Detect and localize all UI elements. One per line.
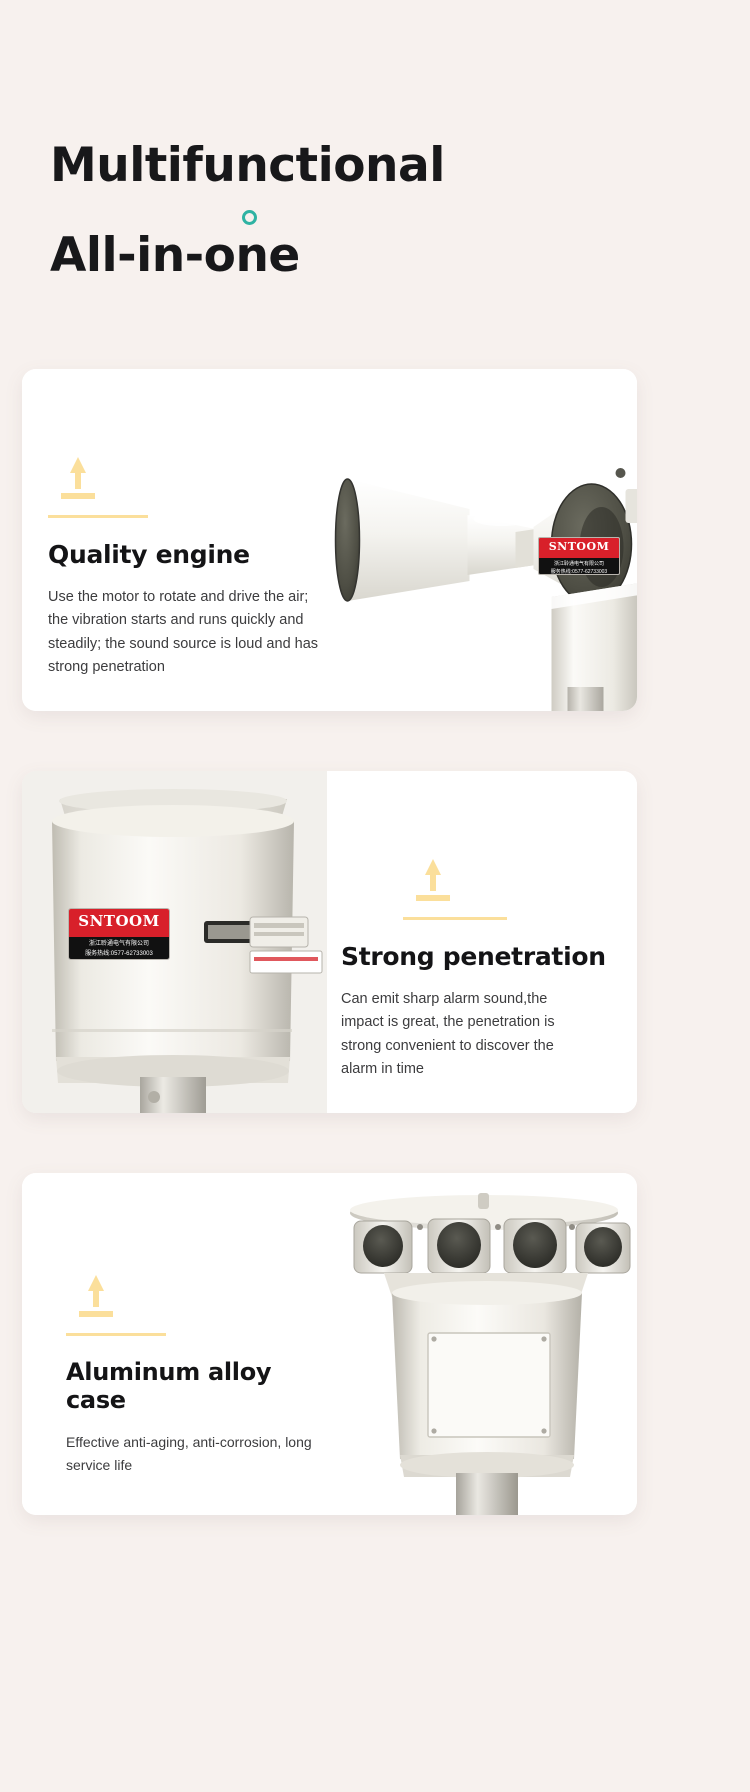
feature-card-text: Strong penetration Can emit sharp alarm … <box>327 771 637 1113</box>
teal-ring-dot-icon <box>242 210 257 225</box>
brand-sub-line-2: 服务热线:0577-62733003 <box>69 949 169 959</box>
page-title-line-2: All-in-one <box>50 232 670 279</box>
feature-card-strong-penetration: Strong penetration Can emit sharp alarm … <box>22 771 637 1113</box>
page-title-line-1: Multifunctional <box>50 142 670 189</box>
feature-card-aluminum-alloy-case: Aluminum alloy case Effective anti-aging… <box>22 1173 637 1515</box>
brand-sub-line-2: 服务热线:0577-62733003 <box>539 568 619 575</box>
brand-sub-line-1: 浙江聆通电气有限公司 <box>69 937 169 949</box>
feature-card-text: Aluminum alloy case Effective anti-aging… <box>22 1173 332 1515</box>
feature-body: Use the motor to rotate and drive the ai… <box>48 586 332 680</box>
feature-title: Aluminum alloy case <box>66 1358 332 1414</box>
feature-card-text: Quality engine Use the motor to rotate a… <box>22 369 332 711</box>
upload-arrow-icon <box>403 853 503 920</box>
feature-body: Can emit sharp alarm sound,the impact is… <box>341 988 577 1082</box>
page-title: Multifunctional All-in-one <box>50 142 670 279</box>
feature-photo-siren-tower <box>332 1173 637 1515</box>
feature-photo-siren-body: SNTOOM 浙江聆通电气有限公司 服务热线:0577-62733003 <box>22 771 327 1113</box>
feature-body: Effective anti-aging, anti-corrosion, lo… <box>66 1431 326 1476</box>
upload-arrow-icon <box>66 1269 166 1336</box>
brand-name: SNTOOM <box>539 538 619 558</box>
feature-title: Strong penetration <box>341 942 619 971</box>
feature-photo-horn-speaker: SNTOOM 浙江聆通电气有限公司 服务热线:0577-62733003 <box>332 369 637 711</box>
brand-label-plate: SNTOOM 浙江聆通电气有限公司 服务热线:0577-62733003 <box>68 908 170 960</box>
brand-name: SNTOOM <box>69 909 169 937</box>
brand-label-plate: SNTOOM 浙江聆通电气有限公司 服务热线:0577-62733003 <box>538 537 620 575</box>
brand-sub-line-1: 浙江聆通电气有限公司 <box>539 558 619 568</box>
feature-card-quality-engine: Quality engine Use the motor to rotate a… <box>22 369 637 711</box>
icon-divider <box>48 515 148 518</box>
feature-title: Quality engine <box>48 540 332 569</box>
product-feature-page: Multifunctional All-in-one Quality engin… <box>0 0 750 1792</box>
icon-divider <box>66 1333 166 1336</box>
icon-divider <box>403 917 507 920</box>
upload-arrow-icon <box>48 451 148 518</box>
